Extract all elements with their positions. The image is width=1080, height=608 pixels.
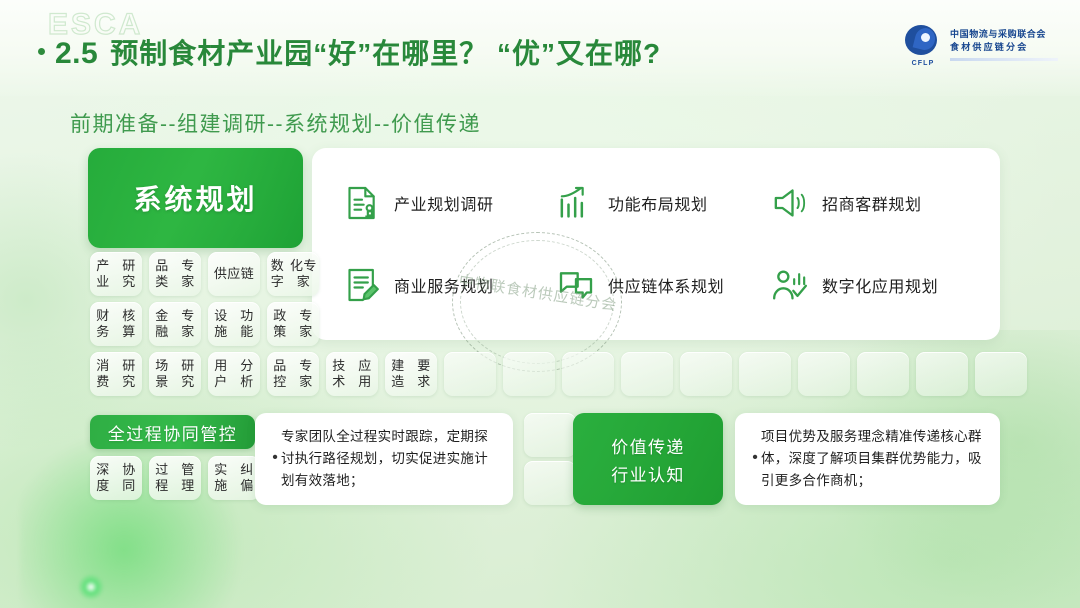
tag-cell-empty — [562, 352, 614, 396]
value-delivery-card: 价值传递 行业认知 — [573, 413, 723, 505]
feature-panel: 产业规划调研 功能布局规划 — [312, 148, 1000, 340]
tag-cell-line: 产业 — [90, 258, 116, 290]
tag-cell[interactable]: 场景研究 — [149, 352, 201, 396]
document-pencil-icon — [342, 265, 382, 305]
tag-cell-empty — [798, 352, 850, 396]
tag-cell-line: 分析 — [234, 358, 260, 390]
tag-cell-line: 供应 — [214, 266, 241, 282]
tag-cell-empty — [739, 352, 791, 396]
bar-chart-growth-icon — [556, 183, 596, 223]
tag-cell[interactable]: 品类专家 — [149, 252, 201, 296]
tag-cell-line: 过程 — [149, 462, 175, 494]
feature-item-investment-audience[interactable]: 招商客群规划 — [770, 162, 984, 244]
tag-cell-line: 品控 — [267, 358, 293, 390]
tag-cell[interactable]: 过程管理 — [149, 456, 201, 500]
tag-cell-line: 财务 — [90, 308, 116, 340]
tag-cell-empty — [503, 352, 555, 396]
tag-cell[interactable]: 产业研究 — [90, 252, 142, 296]
tag-cell-line: 协同 — [116, 462, 142, 494]
tag-cell-line: 研究 — [175, 358, 201, 390]
feature-item-digital-application[interactable]: 数字化应用规划 — [770, 244, 984, 326]
note-card-right: • 项目优势及服务理念精准传递核心群体，深度了解项目集群优势能力，吸引更多合作商… — [735, 413, 1000, 505]
tag-cell[interactable]: 技术应用 — [326, 352, 378, 396]
tag-cell-line: 深度 — [90, 462, 116, 494]
tag-cell-line: 专家 — [175, 308, 201, 340]
tag-cell[interactable]: 供应链 — [208, 252, 260, 296]
feature-item-business-service[interactable]: 商业服务规划 — [342, 244, 556, 326]
tag-cell-empty — [975, 352, 1027, 396]
system-planning-label: 系统规划 — [133, 178, 257, 218]
tag-cell-line: 应用 — [352, 358, 378, 390]
feature-item-supply-chain-system[interactable]: 供应链体系规划 — [556, 244, 770, 326]
tag-cell[interactable]: 深度协同 — [90, 456, 142, 500]
note-bullet-icon: • — [749, 450, 761, 466]
slide-body: 系统规划 产业规划调研 — [0, 0, 1080, 608]
tag-cell[interactable]: 金融专家 — [149, 302, 201, 346]
tag-cell-empty — [916, 352, 968, 396]
tag-cell-line: 专家 — [293, 358, 319, 390]
tag-cell-line: 建造 — [385, 358, 411, 390]
value-card-line-1: 价值传递 — [611, 433, 685, 458]
tag-cell-empty — [444, 352, 496, 396]
tag-cell-empty — [524, 413, 576, 457]
tag-cell-line: 化专家 — [288, 258, 319, 290]
note-text: 项目优势及服务理念精准传递核心群体，深度了解项目集群优势能力，吸引更多合作商机； — [761, 426, 984, 492]
document-stamp-icon — [342, 183, 382, 223]
tag-cell[interactable]: 政策专家 — [267, 302, 319, 346]
speaker-announce-icon — [770, 183, 810, 223]
tag-cell-line: 研究 — [116, 358, 142, 390]
tag-cell-line: 管理 — [175, 462, 201, 494]
tag-cell-line: 用户 — [208, 358, 234, 390]
tag-cell-line: 技术 — [326, 358, 352, 390]
system-planning-card: 系统规划 — [88, 148, 303, 248]
tag-cell-line: 链 — [241, 266, 254, 282]
feature-label: 供应链体系规划 — [608, 273, 724, 297]
tag-cell-line: 政策 — [267, 308, 293, 340]
feature-label: 数字化应用规划 — [822, 273, 938, 297]
tag-cell-empty — [680, 352, 732, 396]
tag-cell[interactable]: 用户分析 — [208, 352, 260, 396]
tag-cell-empty — [524, 461, 576, 505]
tag-cell-line: 功能 — [234, 308, 260, 340]
note-card-left: • 专家团队全过程实时跟踪，定期探讨执行路径规划，切实促进实施计划有效落地； — [255, 413, 513, 505]
feature-label: 招商客群规划 — [822, 191, 922, 215]
note-bullet-icon: • — [269, 450, 281, 466]
value-card-line-2: 行业认知 — [611, 461, 685, 486]
note-text: 专家团队全过程实时跟踪，定期探讨执行路径规划，切实促进实施计划有效落地； — [281, 426, 497, 492]
tag-cell[interactable]: 品控专家 — [267, 352, 319, 396]
tag-cell-line: 消费 — [90, 358, 116, 390]
tag-cell[interactable]: 财务核算 — [90, 302, 142, 346]
tag-cell-line: 研究 — [116, 258, 142, 290]
tag-cell-line: 数字 — [267, 258, 288, 290]
feature-label: 功能布局规划 — [608, 191, 708, 215]
tag-cell-line: 设施 — [208, 308, 234, 340]
tag-cell[interactable]: 数字化专家 — [267, 252, 319, 296]
person-analytics-icon — [770, 265, 810, 305]
feature-item-industry-research[interactable]: 产业规划调研 — [342, 162, 556, 244]
tag-cell[interactable]: 建造要求 — [385, 352, 437, 396]
tag-cell-line: 品类 — [149, 258, 175, 290]
tag-cell-line: 要求 — [411, 358, 437, 390]
feature-label: 产业规划调研 — [394, 191, 494, 215]
tag-cell[interactable]: 消费研究 — [90, 352, 142, 396]
tag-cell-line: 实施 — [208, 462, 234, 494]
feature-label: 商业服务规划 — [394, 273, 494, 297]
tag-cell-empty — [857, 352, 909, 396]
feature-item-function-layout[interactable]: 功能布局规划 — [556, 162, 770, 244]
tag-cell-empty — [621, 352, 673, 396]
full-process-control-bar: 全过程协同管控 — [90, 415, 255, 449]
feature-grid: 产业规划调研 功能布局规划 — [312, 148, 1000, 340]
tag-cell-line: 专家 — [175, 258, 201, 290]
tag-cell-line: 核算 — [116, 308, 142, 340]
tag-cell[interactable]: 实施纠偏 — [208, 456, 260, 500]
tag-cell-line: 专家 — [293, 308, 319, 340]
tag-cell-line: 场景 — [149, 358, 175, 390]
chat-bubbles-icon — [556, 265, 596, 305]
tag-cell[interactable]: 设施功能 — [208, 302, 260, 346]
tag-cell-line: 金融 — [149, 308, 175, 340]
